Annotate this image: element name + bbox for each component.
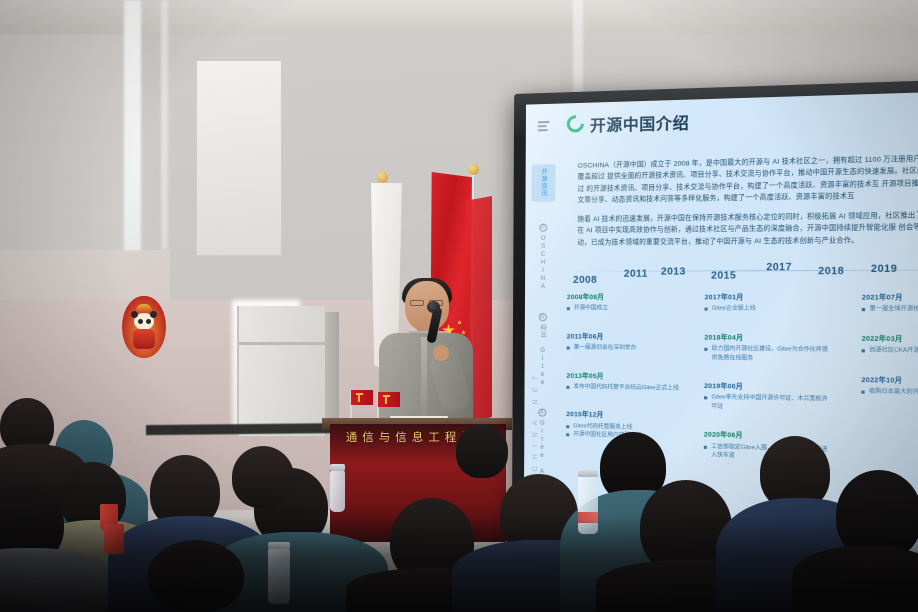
oschina-c-logo-icon [563,112,587,136]
window-light-strip [124,0,141,252]
timeline-event-date: 2021年07月 [862,291,918,302]
timeline-year: 2015 [711,270,736,281]
timeline-event: 2022年10月收购日本最大的开源社区 [861,373,918,398]
party-emblem [355,393,364,402]
bottle-cap [330,464,345,471]
speaker-person [377,281,475,431]
timeline-event-date: 2022年03月 [862,332,918,344]
timeline-event-date: 2011年06月 [567,330,688,341]
sidebar-item-label: OSCHINA [539,235,546,291]
window-light-strip [161,0,168,250]
party-desk-flag [351,390,373,405]
gitee-icon: G [539,313,547,321]
timeline-event-desc-line: 助力国内开源社区建设，Gitee为合作伙伴提供免费在线服务 [704,345,831,364]
timeline-event: 2017年01月Gitee企业版上线 [705,291,832,314]
conference-room-photo: 通信与信息工程学院 开源中国介绍 开源资讯 O OSCHINA G 码云 [0,0,918,612]
timeline-year: 2019 [871,263,898,275]
timeline-event: 2021年07月第一届全球开源技术峰会在深圳举办 [862,291,918,315]
cabinet [237,306,325,436]
timeline-event-desc: 收购日本最大的开源社区 [861,387,918,398]
attendee-head [456,424,508,478]
timeline-event-date: 2022年10月 [861,373,918,386]
timeline-year: 2013 [661,266,686,277]
panda-ear [131,311,138,318]
timeline-event-desc-line: Gitee率先支持中国开源许可证、木兰宽松许可证 [704,394,831,414]
timeline-year-labels: 20082011201320152017201820192020202120 [555,255,918,279]
timeline-event-date: 2017年01月 [705,291,832,302]
timeline-event-date: 2019年06月 [704,380,831,392]
hamburger-menu-icon[interactable] [538,121,550,131]
timeline-event-desc: 创源社区CKA开源社区用户突破千万 [862,346,918,356]
timeline-event: 2011年06月第一届源创会在深圳举办 [567,330,688,353]
timeline-year: 2018 [818,266,844,278]
party-emblem [382,395,391,404]
speaker-hand [433,345,449,361]
timeline-event-desc-line: 创源社区CKA开源社区用户突破千万 [862,346,918,356]
oschina-icon: O [539,223,547,231]
panda-ear [150,311,157,318]
timeline-event-desc: 发布中国代码托管平台码云Gitee正式上线 [566,383,687,393]
timeline-event-desc: Gitee企业版上线 [705,305,832,314]
panda-eye [138,319,143,324]
timeline-event-desc-line: Gitee企业版上线 [705,305,832,314]
timeline-event-desc: 开源中国成立 [567,305,688,314]
timeline-event-date: 2013年05月 [566,369,687,381]
timeline-event: 2018年04月助力国内开源社区建设，Gitee为合作伙伴提供免费在线服务 [704,331,831,364]
timeline-event-desc: 助力国内开源社区建设，Gitee为合作伙伴提供免费在线服务 [704,345,831,364]
slide-title: 开源中国介绍 [590,111,690,136]
timeline-event-desc: Gitee率先支持中国开源许可证、木兰宽松许可证 [704,394,831,414]
timeline-event: 2022年03月创源社区CKA开源社区用户突破千万 [862,332,918,356]
sidebar-item-news[interactable]: 开源资讯 [531,164,555,201]
speaker-glasses [410,300,424,306]
timeline-event: 2013年05月发布中国代码托管平台码云Gitee正式上线 [566,369,687,393]
timeline-event-desc-line: 发布中国代码托管平台码云Gitee正式上线 [566,383,687,393]
attendee-head [232,446,294,508]
panda-eye [146,319,151,324]
timeline-event-desc-line: 收购日本最大的开源社区 [861,387,918,398]
sidebar-item-label: 开源资讯 [539,168,548,197]
water-bottle [330,470,345,512]
panda-mascot-sticker [122,296,166,358]
timeline-event-desc: 第一届全球开源技术峰会在深圳举办 [862,305,918,314]
intro-paragraph-2: 随着 AI 技术的迅速发展，开源中国在保持开源技术服务核心定位的同时，积极拓展 … [577,210,918,249]
foreground-shadow [0,516,918,612]
microphone-head [427,301,440,313]
party-desk-flag [378,392,400,407]
timeline-event-date: 2018年04月 [704,331,831,342]
sidebar-item-oschina[interactable]: O OSCHINA [531,223,555,290]
timeline-event: 2008年08月开源中国成立 [567,291,688,313]
timeline-event: 2019年06月Gitee率先支持中国开源许可证、木兰宽松许可证 [704,380,831,414]
bottle-cap [578,470,598,477]
timeline-year: 2011 [624,269,648,280]
timeline-event-date: 2015年12月 [566,408,687,421]
timeline-event-desc: 第一届源创会在深圳举办 [567,344,688,354]
intro-paragraph-1: OSCHINA（开源中国）成立于 2008 年，是中国最大的开源与 AI 技术社… [577,153,918,207]
timeline-column: 2021年07月第一届全球开源技术峰会在深圳举办2022年03月创源社区CKA开… [861,291,918,417]
panda-body [133,329,155,349]
timeline-year: 2008 [573,275,597,286]
timeline-year: 2017 [766,262,792,274]
timeline-event-desc-line: 第一届全球开源技术峰会在深圳举办 [862,305,918,314]
timeline-event-desc-line: 开源中国成立 [567,305,688,314]
whiteboard [196,60,282,256]
timeline-event-desc-line: 第一届源创会在深圳举办 [567,344,688,354]
timeline-event-date: 2008年08月 [567,291,688,301]
flag-pole-finial [377,172,388,183]
flag-pole-finial [468,164,479,175]
cabinet-side [325,312,339,434]
